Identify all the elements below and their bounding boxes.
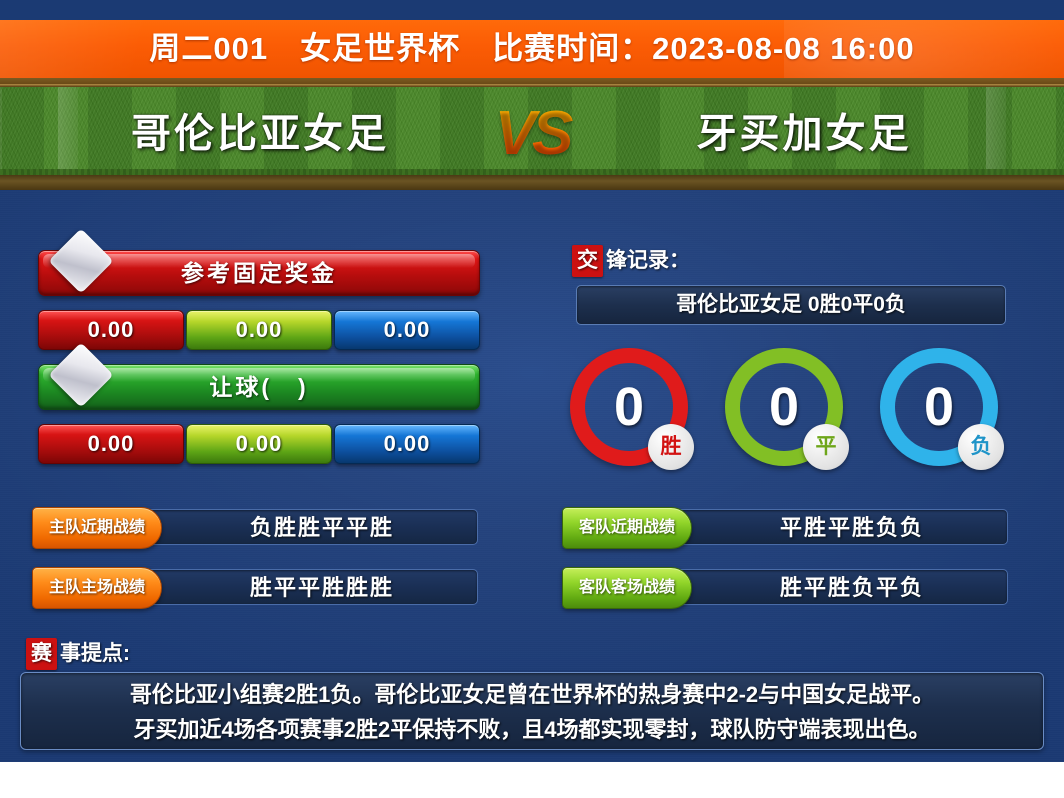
away-venue-form-tag: 客队客场战绩 [562, 567, 692, 609]
tips-line-1: 哥伦比亚小组赛2胜1负。哥伦比亚女足曾在世界杯的热身赛中2-2与中国女足战平。 [29, 677, 1035, 712]
tips-title-text: 事提点: [60, 642, 130, 665]
fixed-odds-draw[interactable]: 0.00 [186, 310, 332, 350]
fixed-odds-row: 0.00 0.00 0.00 [38, 310, 478, 348]
handicap-odds-win[interactable]: 0.00 [38, 424, 184, 464]
home-venue-form-tag: 主队主场战绩 [32, 567, 162, 609]
handicap-odds-row: 0.00 0.00 0.00 [38, 424, 478, 462]
home-team-name: 哥伦比亚女足 [60, 94, 460, 174]
match-preview-card: 周二001 女足世界杯 比赛时间：2023-08-08 16:00 哥伦比亚女足… [0, 0, 1064, 798]
h2h-ring-draw: 0 平 [725, 348, 843, 466]
h2h-ring-win: 0 胜 [570, 348, 688, 466]
h2h-ring-loss: 0 负 [880, 348, 998, 466]
away-recent-form-tag: 客队近期战绩 [562, 507, 692, 549]
vs-icon: VS [482, 84, 582, 189]
bottom-white-strip [0, 762, 1064, 798]
away-venue-form-row: 胜平胜负平负 客队客场战绩 [562, 567, 1008, 607]
vs-label: VS [482, 84, 582, 184]
h2h-draw-label: 平 [803, 424, 849, 470]
away-team-name: 牙买加女足 [604, 94, 1004, 174]
h2h-badge: 交 [572, 245, 603, 277]
home-recent-form-row: 负胜胜平平胜 主队近期战绩 [32, 507, 478, 547]
home-venue-form-value: 胜平平胜胜胜 [126, 569, 478, 605]
handicap-odds-loss[interactable]: 0.00 [334, 424, 480, 464]
header-bar: 周二001 女足世界杯 比赛时间：2023-08-08 16:00 [0, 20, 1064, 78]
fixed-odds-win[interactable]: 0.00 [38, 310, 184, 350]
away-venue-form-value: 胜平胜负平负 [656, 569, 1008, 605]
home-recent-form-value: 负胜胜平平胜 [126, 509, 478, 545]
tips-title: 赛事提点: [26, 638, 130, 668]
tips-badge: 赛 [26, 638, 57, 670]
header-title: 周二001 女足世界杯 比赛时间：2023-08-08 16:00 [0, 20, 1064, 78]
home-venue-form-row: 胜平平胜胜胜 主队主场战绩 [32, 567, 478, 607]
handicap-odds-draw[interactable]: 0.00 [186, 424, 332, 464]
h2h-title-text: 锋记录： [606, 249, 690, 272]
h2h-win-label: 胜 [648, 424, 694, 470]
away-recent-form-value: 平胜平胜负负 [656, 509, 1008, 545]
h2h-summary: 哥伦比亚女足 0胜0平0负 [576, 285, 1006, 325]
away-recent-form-row: 平胜平胜负负 客队近期战绩 [562, 507, 1008, 547]
tips-line-2: 牙买加近4场各项赛事2胜2平保持不败，且4场都实现零封，球队防守端表现出色。 [29, 712, 1035, 747]
tips-box: 哥伦比亚小组赛2胜1负。哥伦比亚女足曾在世界杯的热身赛中2-2与中国女足战平。 … [20, 672, 1044, 750]
home-recent-form-tag: 主队近期战绩 [32, 507, 162, 549]
fixed-odds-loss[interactable]: 0.00 [334, 310, 480, 350]
h2h-title: 交锋记录： [572, 245, 690, 275]
h2h-loss-label: 负 [958, 424, 1004, 470]
